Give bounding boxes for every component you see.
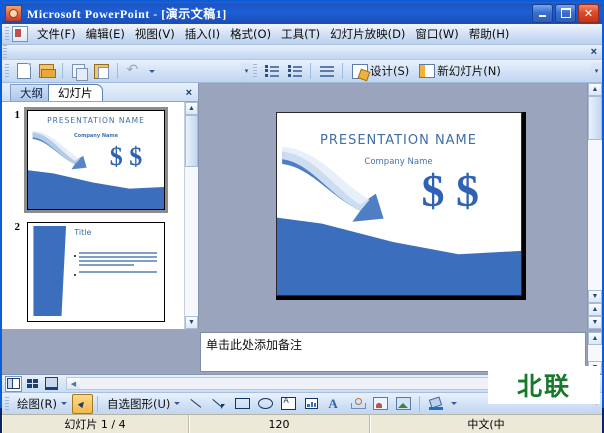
slide-pane: 大纲 幻灯片 × 1 — [2, 83, 199, 329]
next-slide-button[interactable]: ▼ — [588, 316, 602, 329]
chevron-down-icon — [174, 402, 180, 405]
tab-slides[interactable]: 幻灯片 — [48, 84, 103, 101]
scroll-up-button[interactable]: ▲ — [185, 102, 198, 115]
new-document-icon — [17, 63, 31, 79]
toolbar-separator — [117, 63, 118, 79]
powerpoint-icon — [5, 5, 22, 22]
bullet-dot — [74, 274, 76, 276]
menu-file[interactable]: 文件(F) — [32, 24, 81, 44]
slide-number: 2 — [6, 219, 24, 233]
menu-tools[interactable]: 工具(T) — [276, 24, 325, 44]
paste-button[interactable] — [90, 61, 113, 82]
rectangle-icon — [235, 398, 250, 409]
thumbnail-bullets — [74, 252, 157, 279]
copy-icon — [72, 64, 85, 78]
slide-shadow: PRESENTATION NAME Company Name $ $ — [276, 112, 526, 300]
picture-icon — [396, 397, 411, 410]
autoshapes-button[interactable]: 自选图形(U) — [102, 393, 185, 414]
scrollbar-thumb[interactable] — [588, 96, 602, 140]
normal-view-icon — [7, 378, 20, 389]
sidebar-shape — [33, 226, 66, 316]
slide-number: 1 — [6, 107, 24, 121]
thumbnail-canvas: PRESENTATION NAME Company Name $ $ — [27, 110, 165, 210]
design-icon — [352, 64, 368, 79]
open-folder-icon — [39, 64, 54, 78]
tab-outline[interactable]: 大纲 — [10, 84, 53, 101]
standard-toolbar-grip[interactable] — [5, 64, 9, 78]
bullets-button[interactable] — [260, 61, 283, 82]
slide-sorter-icon — [27, 379, 38, 388]
line-icon — [190, 398, 203, 409]
clip-art-icon — [373, 397, 388, 410]
toolbar-separator — [97, 396, 98, 412]
rectangle-tool-button[interactable] — [231, 393, 254, 414]
slide-thumbnail-2[interactable]: Title — [24, 219, 168, 325]
design-label: 设计(S) — [370, 63, 409, 79]
numbering-button[interactable] — [283, 61, 306, 82]
toolbar-separator — [62, 63, 63, 79]
slide-subtitle[interactable]: Company Name — [277, 157, 521, 167]
scroll-down-button[interactable]: ▼ — [588, 290, 602, 303]
autoshapes-label: 自选图形(U) — [107, 396, 170, 412]
new-slide-icon — [419, 64, 435, 78]
toolbar-separator — [342, 63, 343, 79]
chevron-down-icon — [451, 402, 457, 405]
watermark: 北联 — [488, 366, 600, 404]
document-icon — [12, 26, 28, 42]
select-arrow-icon — [78, 399, 86, 407]
new-slide-button[interactable]: 新幻灯片(N) — [414, 61, 506, 82]
close-button[interactable]: ✕ — [578, 4, 599, 23]
menu-window[interactable]: 窗口(W) — [410, 24, 463, 44]
picture-button[interactable] — [392, 393, 415, 414]
select-objects-button[interactable] — [72, 394, 93, 414]
list-item[interactable]: 2 Title — [6, 219, 182, 325]
toolbar-separator — [310, 63, 311, 79]
slide-area-scrollbar[interactable]: ▲ ▼ ▲ ▼ — [587, 83, 602, 329]
diagram-icon — [351, 398, 364, 409]
draw-label: 绘图(R) — [17, 396, 57, 412]
list-item[interactable]: 1 PRESENTATION NAME Company Name $ — [6, 107, 182, 213]
menu-view[interactable]: 视图(V) — [130, 24, 180, 44]
toolbar-strip-upper: × — [2, 45, 602, 60]
powerpoint-window: Microsoft PowerPoint - [演示文稿1] ✕ 文件(F) 编… — [0, 0, 604, 408]
close-toolbar-icon[interactable]: × — [591, 46, 597, 58]
oval-tool-button[interactable] — [254, 393, 277, 414]
arrow-tool-button[interactable] — [208, 393, 231, 414]
menu-help[interactable]: 帮助(H) — [464, 24, 515, 44]
scroll-up-button[interactable]: ▲ — [588, 332, 602, 345]
bullet-text — [79, 252, 157, 268]
oval-icon — [258, 398, 273, 409]
status-language: 中文(中 — [370, 415, 602, 433]
window-controls: ✕ — [532, 4, 600, 23]
bullets-icon — [265, 66, 279, 77]
arrow-icon — [213, 398, 226, 409]
word-art-button[interactable]: A — [323, 393, 346, 414]
scrollbar-track[interactable] — [588, 140, 602, 290]
toolbar-separator — [419, 396, 420, 412]
current-slide[interactable]: PRESENTATION NAME Company Name $ $ — [276, 112, 522, 296]
clip-art-button[interactable] — [369, 393, 392, 414]
copy-button[interactable] — [67, 61, 90, 82]
toolbar-grip-upper[interactable] — [3, 45, 7, 59]
dollar-signs: $ $ — [110, 144, 143, 170]
insert-chart-icon — [305, 398, 318, 409]
status-design-name: 120 — [189, 415, 370, 433]
design-button[interactable]: 设计(S) — [347, 61, 414, 82]
menu-insert[interactable]: 插入(I) — [180, 24, 225, 44]
text-box-icon — [281, 397, 296, 410]
slide-show-button[interactable] — [43, 376, 60, 392]
undo-icon — [127, 65, 141, 77]
scroll-left-button[interactable]: ◀ — [67, 378, 80, 389]
pane-tabs: 大纲 幻灯片 × — [2, 83, 198, 102]
window-title: Microsoft PowerPoint - [演示文稿1] — [27, 5, 227, 22]
status-slide-position: 幻灯片 1 / 4 — [2, 415, 189, 433]
scroll-down-button[interactable]: ▼ — [185, 316, 198, 329]
undo-button[interactable] — [122, 61, 145, 82]
title-bar: Microsoft PowerPoint - [演示文稿1] ✕ — [2, 2, 602, 24]
paste-icon — [94, 64, 109, 79]
scrollbar-thumb[interactable] — [185, 115, 198, 167]
draw-menu-button[interactable]: 绘图(R) — [12, 393, 72, 414]
menu-edit[interactable]: 编辑(E) — [81, 24, 130, 44]
slide-sorter-button[interactable] — [24, 376, 41, 392]
status-bar: 幻灯片 1 / 4 120 中文(中 — [2, 414, 602, 433]
fill-color-dropdown[interactable] — [447, 393, 459, 414]
increase-indent-button[interactable] — [315, 61, 338, 82]
menu-bar: 文件(F) 编辑(E) 视图(V) 插入(I) 格式(O) 工具(T) 幻灯片放… — [2, 24, 602, 45]
new-slide-label: 新幻灯片(N) — [437, 63, 501, 79]
standard-toolbar: ▾ 设计(S) 新幻灯片(N) ▾ — [2, 60, 602, 83]
dollar-signs: $ $ — [422, 168, 480, 214]
scrollbar-track[interactable] — [588, 345, 602, 361]
insert-chart-button[interactable] — [300, 393, 323, 414]
toolbar-overflow-upper[interactable]: ▾ — [241, 62, 252, 81]
open-button[interactable] — [35, 61, 58, 82]
close-pane-icon[interactable]: × — [186, 87, 192, 99]
menu-grip[interactable] — [5, 27, 9, 41]
chevron-down-icon — [61, 402, 67, 405]
drawing-toolbar-grip[interactable] — [5, 397, 9, 411]
arrow-graphic — [279, 138, 435, 240]
scroll-up-button[interactable]: ▲ — [588, 83, 602, 96]
previous-slide-button[interactable]: ▲ — [588, 303, 602, 316]
text-box-button[interactable] — [277, 393, 300, 414]
bullet-text — [79, 271, 157, 276]
menu-slideshow[interactable]: 幻灯片放映(D) — [325, 24, 410, 44]
thumbnail-canvas: Title — [27, 222, 165, 322]
workspace: 大纲 幻灯片 × 1 — [2, 83, 602, 329]
increase-indent-icon — [320, 66, 334, 77]
undo-dropdown-button[interactable] — [145, 61, 157, 82]
slide-show-icon — [45, 377, 58, 390]
formatting-toolbar-grip[interactable] — [253, 64, 257, 78]
slide-pane-scrollbar[interactable]: ▲ ▼ — [184, 102, 198, 329]
diagram-button[interactable] — [346, 393, 369, 414]
minimize-button[interactable] — [532, 4, 553, 23]
slide-thumbnail-list[interactable]: 1 PRESENTATION NAME Company Name $ — [2, 102, 198, 329]
slide-title[interactable]: PRESENTATION NAME — [277, 133, 521, 148]
scrollbar-track[interactable] — [185, 167, 198, 316]
maximize-button[interactable] — [555, 4, 576, 23]
slide-thumbnail-1[interactable]: PRESENTATION NAME Company Name $ $ — [24, 107, 168, 213]
line-tool-button[interactable] — [185, 393, 208, 414]
menu-format[interactable]: 格式(O) — [225, 24, 276, 44]
normal-view-button[interactable] — [5, 376, 22, 392]
chevron-down-icon — [149, 70, 155, 73]
toolbar-overflow-right[interactable]: ▾ — [591, 62, 602, 81]
fill-color-button[interactable] — [424, 393, 447, 414]
numbering-icon — [288, 66, 302, 77]
new-document-button[interactable] — [12, 61, 35, 82]
bullet-dot — [74, 255, 76, 257]
slide-editing-area[interactable]: PRESENTATION NAME Company Name $ $ ▲ ▼ ▲… — [199, 83, 602, 329]
